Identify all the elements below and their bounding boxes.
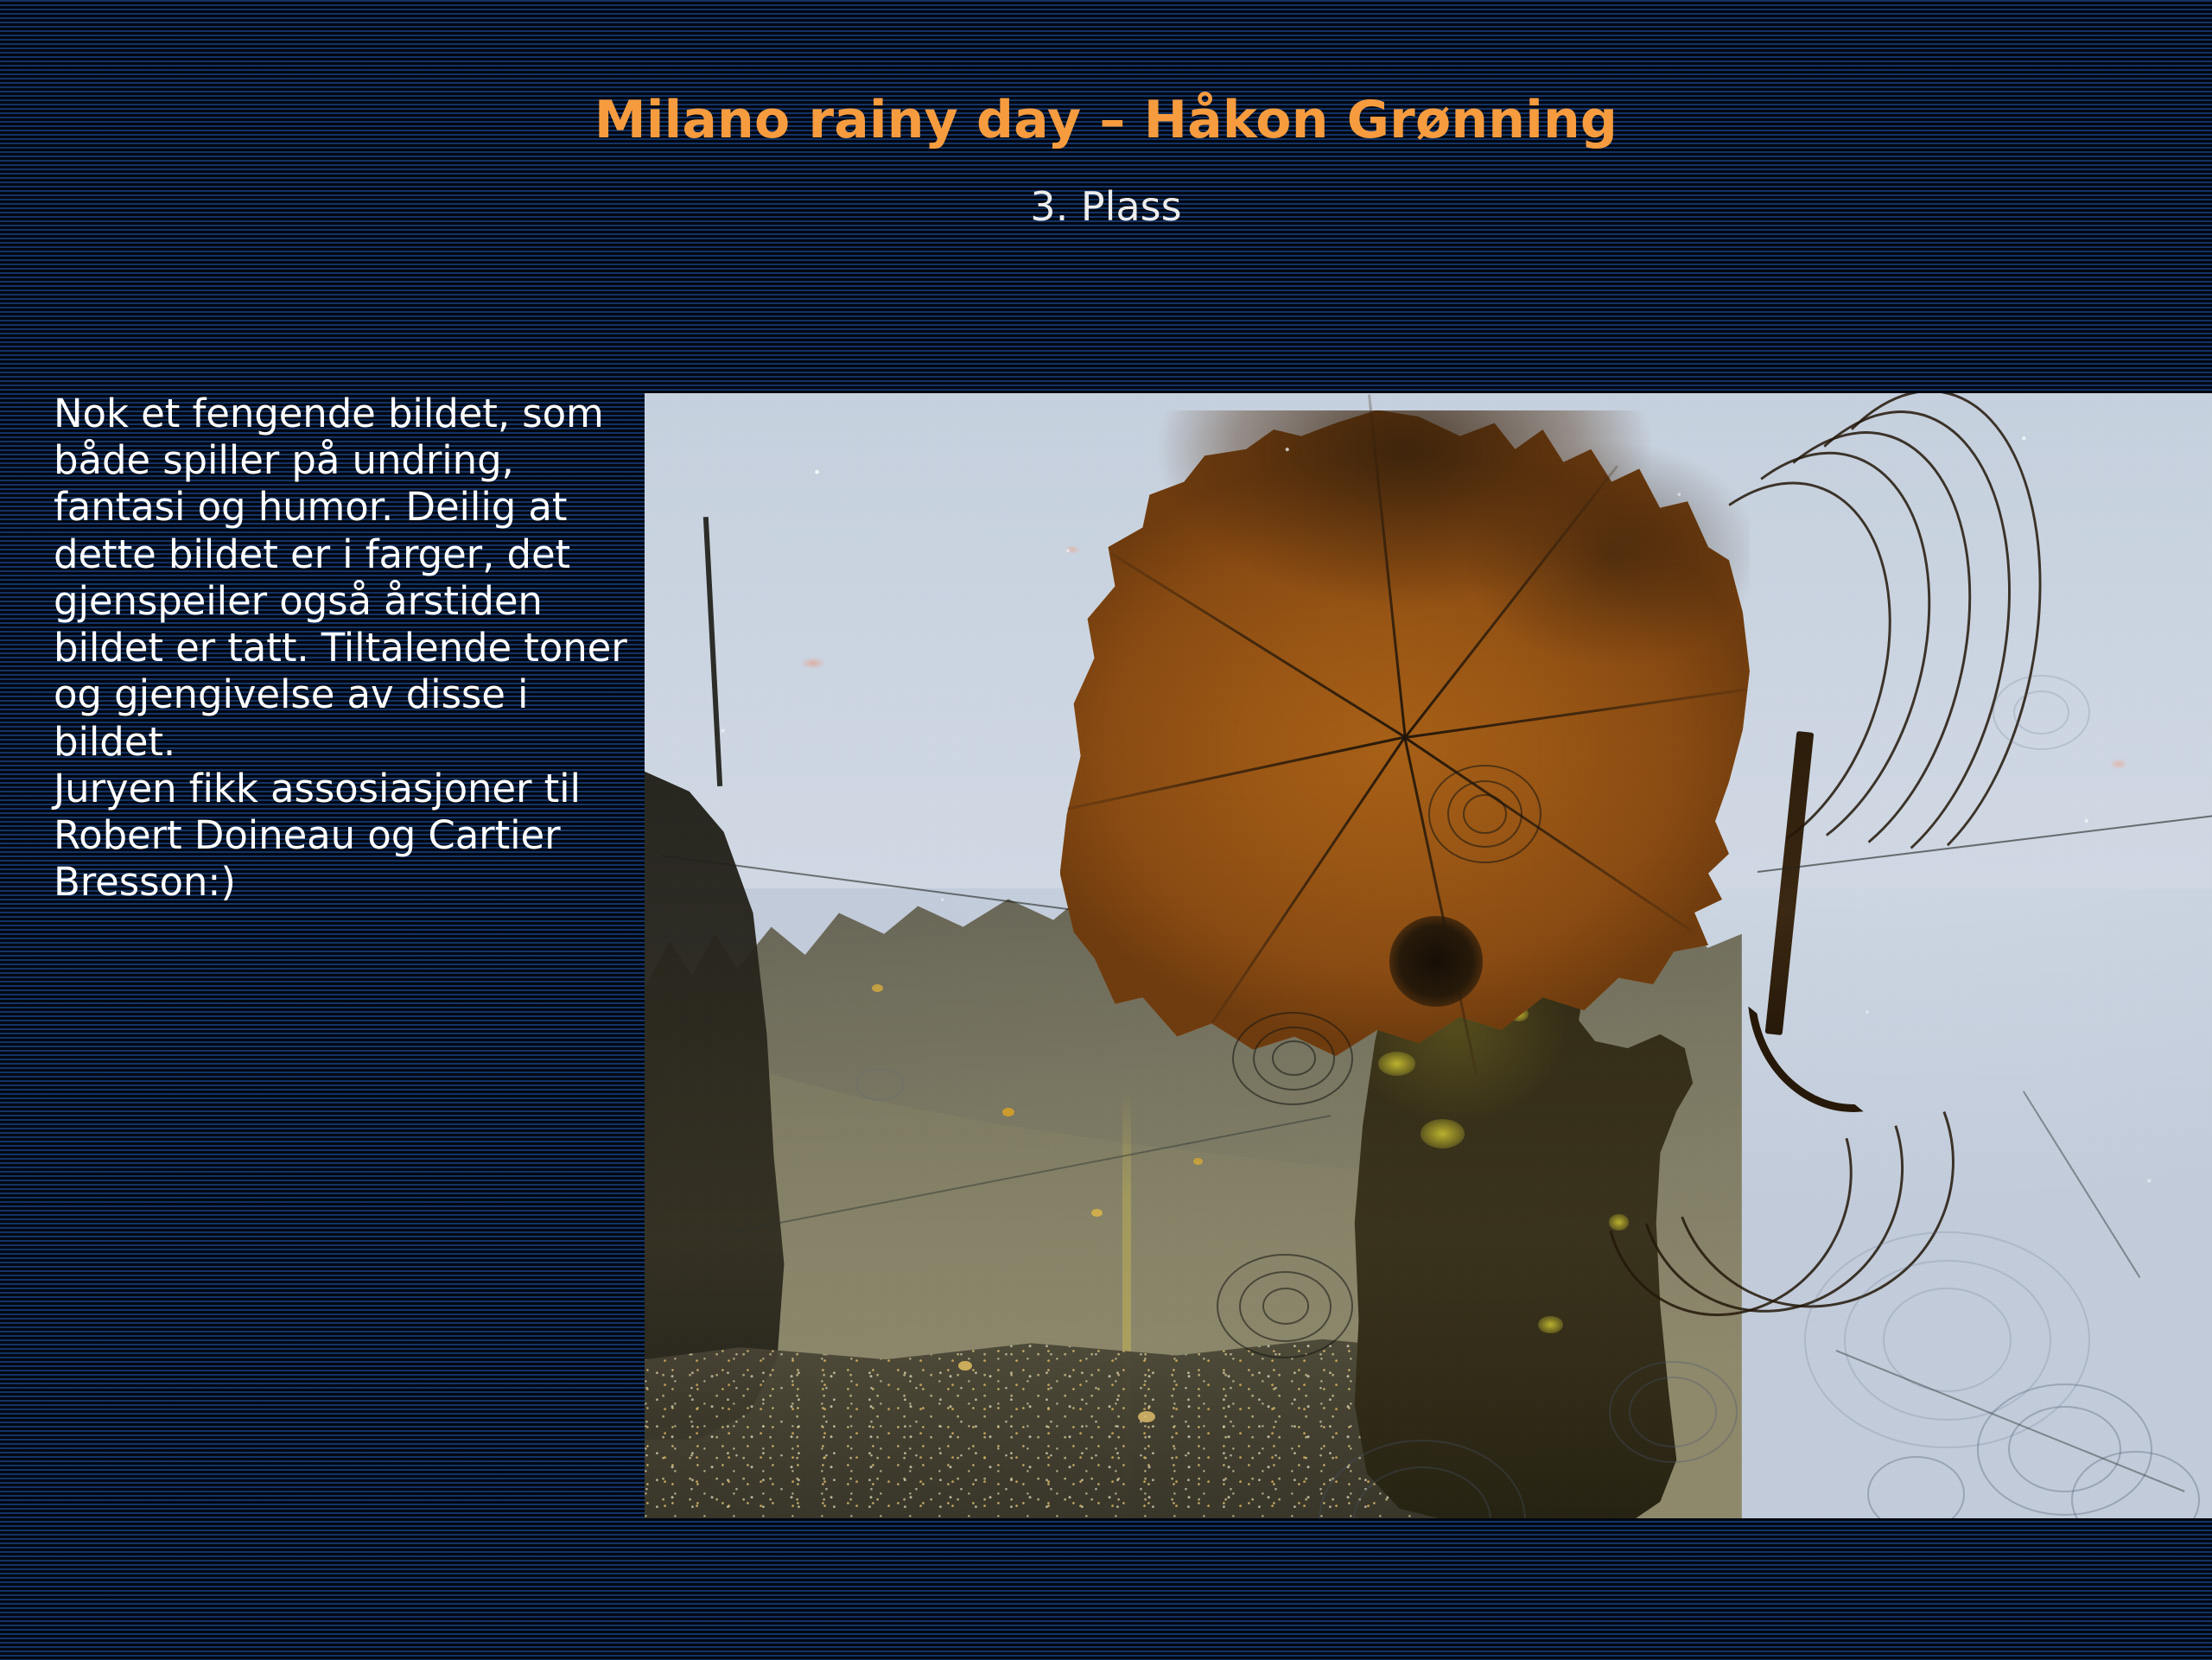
umbrella-center-hub <box>1389 916 1484 1006</box>
jury-comment-paragraph-2: Juryen fikk assosiasjoner til Robert Doi… <box>54 766 634 906</box>
jury-comment-paragraph-1: Nok et fengende bildet, som både spiller… <box>54 391 634 766</box>
page-title: Milano rainy day – Håkon Grønning <box>0 93 2212 148</box>
title-block: Milano rainy day – Håkon Grønning 3. Pla… <box>0 93 2212 227</box>
puddle-reflection-photo <box>645 393 2212 1518</box>
jury-comment-text: Nok et fengende bildet, som både spiller… <box>54 391 634 906</box>
photo-frame <box>645 393 2212 1518</box>
presentation-slide: Milano rainy day – Håkon Grønning 3. Pla… <box>0 0 2212 1660</box>
slide-subtitle: 3. Plass <box>0 186 2212 227</box>
